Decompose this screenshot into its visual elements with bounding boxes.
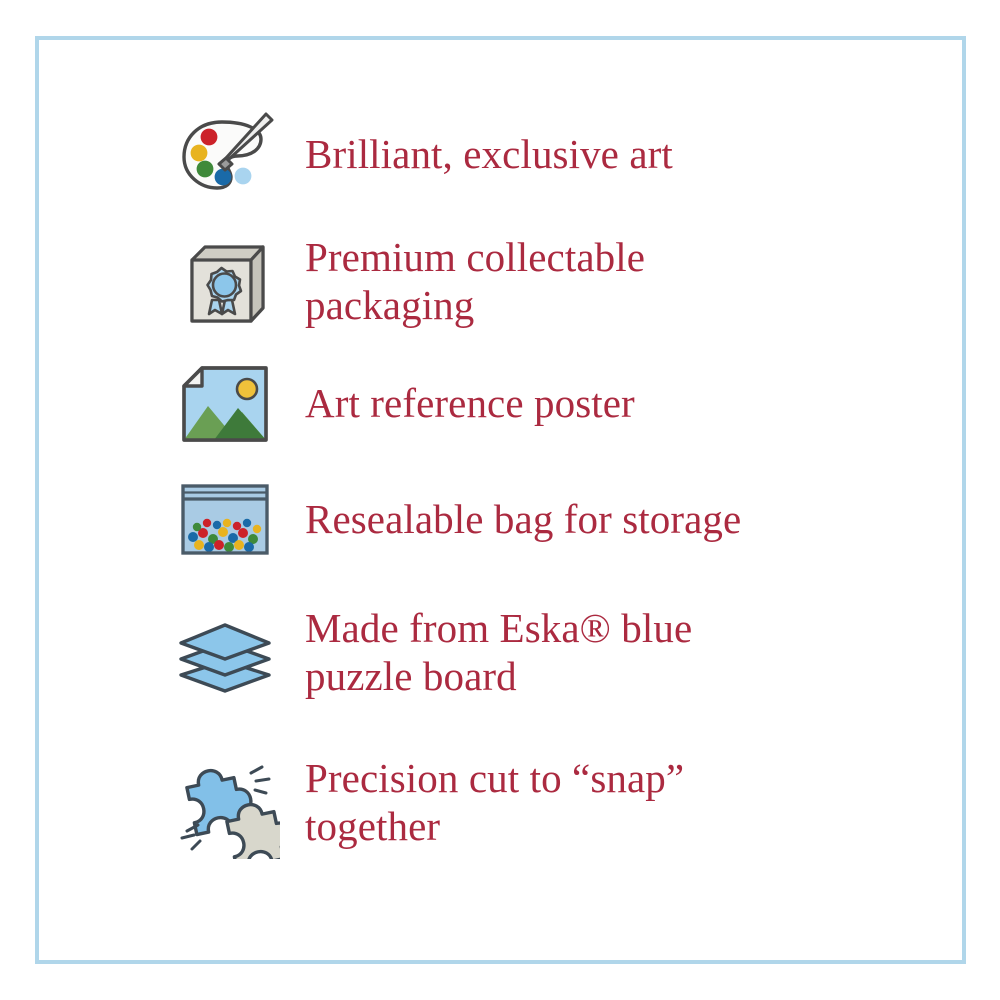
feature-row: Premium collectable packaging bbox=[165, 218, 865, 346]
feature-row: Made from Eska® blue puzzle board bbox=[165, 578, 865, 728]
feature-label: Premium collectable packaging bbox=[285, 234, 865, 330]
feature-row: Brilliant, exclusive art bbox=[165, 92, 865, 218]
feature-list-card: Brilliant, exclusive art Premium collect… bbox=[0, 0, 1000, 1000]
feature-label: Art reference poster bbox=[285, 380, 865, 428]
feature-label: Resealable bag for storage bbox=[285, 496, 865, 544]
poster-image-icon bbox=[165, 344, 285, 464]
feature-label: Made from Eska® blue puzzle board bbox=[285, 605, 865, 701]
paint-palette-icon bbox=[165, 95, 285, 215]
feature-row: Resealable bag for storage bbox=[165, 462, 865, 578]
feature-row: Art reference poster bbox=[165, 346, 865, 462]
feature-label: Precision cut to “snap” together bbox=[285, 755, 865, 851]
stacked-board-layers-icon bbox=[165, 593, 285, 713]
puzzle-pieces-snap-icon bbox=[165, 743, 285, 863]
feature-label: Brilliant, exclusive art bbox=[285, 131, 865, 179]
feature-row: Precision cut to “snap” together bbox=[165, 728, 865, 878]
award-box-icon bbox=[165, 222, 285, 342]
feature-list: Brilliant, exclusive art Premium collect… bbox=[165, 92, 865, 878]
resealable-bag-icon bbox=[165, 460, 285, 580]
